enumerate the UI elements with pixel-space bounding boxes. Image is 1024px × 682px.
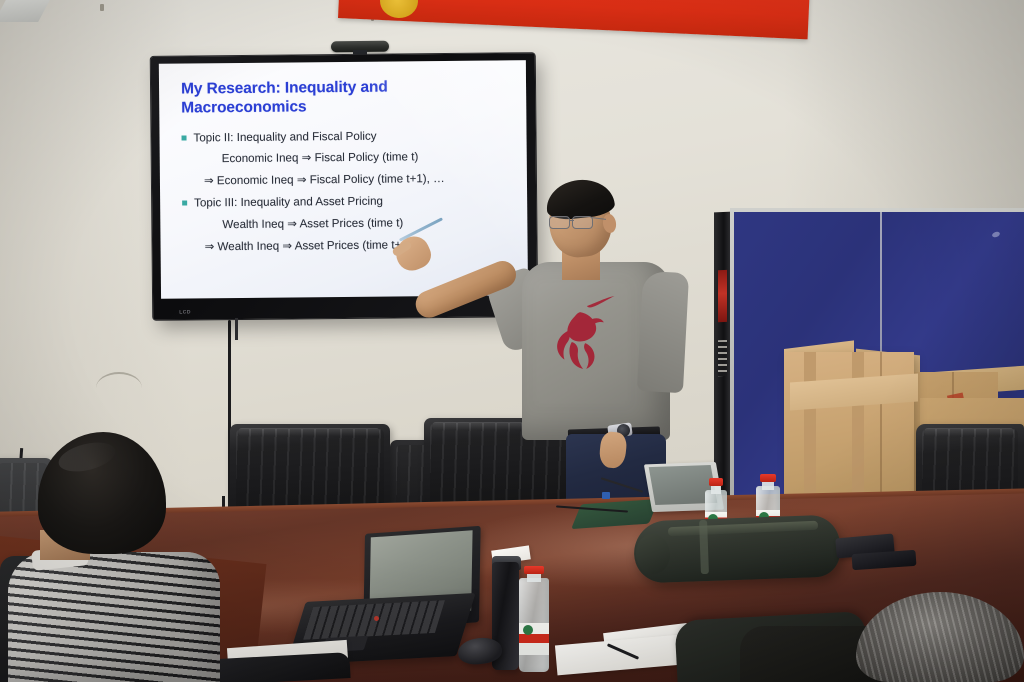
attendee-shirt-shading — [8, 552, 220, 682]
slide-subline-2a: Economic Ineq ⇒ Fiscal Policy (time t) — [182, 146, 513, 171]
slide-subline-2b: ⇒ Economic Ineq ⇒ Fiscal Policy (time t+… — [182, 168, 513, 193]
slide-subline-3b: ⇒ Wealth Ineq ⇒ Asset Prices (time t+1),… — [182, 233, 513, 258]
slide-bullet-label: Topic II: Inequality and Fiscal Policy — [193, 125, 376, 148]
display-screen[interactable]: My Research: Inequality and Macroeconomi… — [159, 60, 528, 299]
slide-title: My Research: Inequality and Macroeconomi… — [181, 77, 481, 119]
square-bullet-icon — [182, 135, 187, 140]
presentation-slide: My Research: Inequality and Macroeconomi… — [159, 60, 528, 299]
cougar-logo-icon — [553, 310, 605, 372]
water-bottle-front[interactable] — [519, 566, 549, 672]
glasses-lens-left-icon — [549, 216, 570, 229]
pinboard-tick-marks — [718, 340, 727, 376]
slide-bullet-label: Topic III: Inequality and Asset Pricing — [194, 191, 383, 214]
wall-screw-1 — [100, 4, 104, 11]
bottle-body — [519, 578, 549, 672]
nike-swoosh-icon — [586, 296, 616, 308]
presenter-right-shoulder — [637, 271, 689, 393]
blue-connector — [602, 492, 610, 499]
bottle-cap[interactable] — [709, 478, 723, 486]
bottle-label — [519, 623, 549, 655]
square-bullet-icon — [182, 201, 187, 206]
display-cable-stem — [235, 318, 238, 340]
pinboard-red-label — [718, 270, 727, 322]
trackpoint-icon[interactable] — [374, 616, 379, 621]
glasses-bridge — [569, 220, 574, 221]
glasses-lens-right-icon — [572, 216, 593, 229]
photo-scene: My Research: Inequality and Macroeconomi… — [0, 0, 1024, 682]
bottle-cap[interactable] — [760, 474, 775, 482]
bottle-label-mark — [523, 625, 533, 635]
slide-subline-3a: Wealth Ineq ⇒ Asset Prices (time t) — [182, 211, 513, 236]
bottle-cap[interactable] — [524, 566, 543, 574]
display-brand-mark: LCD — [179, 309, 191, 315]
slide-body: Topic II: Inequality and Fiscal Policy E… — [181, 124, 513, 258]
